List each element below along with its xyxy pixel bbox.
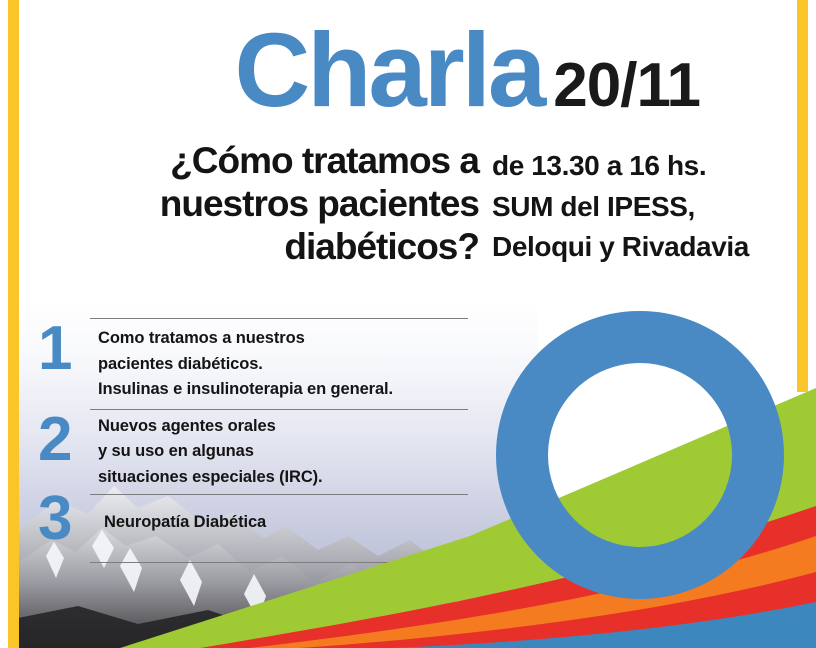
- agenda-body-2: Nuevos agentes orales y su uso en alguna…: [90, 409, 468, 491]
- subtitle-block: ¿Cómo tratamos a nuestros pacientes diab…: [24, 140, 479, 269]
- agenda-2-line-2: y su uso en algunas: [98, 439, 468, 465]
- page-title: Charla: [234, 12, 543, 129]
- subtitle-line-3: diabéticos?: [24, 226, 479, 269]
- agenda-body-1: Como tratamos a nuestros pacientes diabé…: [90, 318, 468, 403]
- venue-address: Deloqui y Rivadavia: [492, 227, 802, 268]
- title-row: Charla20/11: [0, 18, 700, 123]
- event-time: de 13.30 a 16 hs.: [492, 146, 802, 187]
- subtitle-line-1: ¿Cómo tratamos a: [24, 140, 479, 183]
- agenda-number-2: 2: [38, 411, 90, 468]
- venue-name: SUM del IPESS,: [492, 187, 802, 228]
- agenda-2-line-3: situaciones especiales (IRC).: [98, 465, 468, 491]
- agenda-1-line-2: pacientes diabéticos.: [98, 352, 468, 378]
- right-yellow-rule: [797, 0, 808, 392]
- agenda-item-2: 2 Nuevos agentes orales y su uso en algu…: [38, 409, 468, 491]
- subtitle-line-2: nuestros pacientes: [24, 183, 479, 226]
- blue-ring-graphic: [522, 337, 758, 573]
- agenda-1-line-3: Insulinas e insulinoterapia en general.: [98, 377, 468, 403]
- poster-canvas: Charla20/11 ¿Cómo tratamos a nuestros pa…: [0, 0, 816, 648]
- agenda-number-1: 1: [38, 320, 90, 377]
- agenda-1-line-1: Como tratamos a nuestros: [98, 326, 468, 352]
- agenda-3-line-1: Neuropatía Diabética: [98, 502, 468, 536]
- agenda-item-3: 3 Neuropatía Diabética: [38, 494, 468, 563]
- left-yellow-rule: [8, 0, 19, 648]
- agenda-body-3: Neuropatía Diabética: [90, 494, 468, 563]
- agenda-list: 1 Como tratamos a nuestros pacientes dia…: [38, 318, 468, 563]
- agenda-2-line-1: Nuevos agentes orales: [98, 414, 468, 440]
- venue-block: de 13.30 a 16 hs. SUM del IPESS, Deloqui…: [492, 146, 802, 268]
- agenda-number-3: 3: [38, 490, 90, 547]
- agenda-item-1: 1 Como tratamos a nuestros pacientes dia…: [38, 318, 468, 403]
- event-date: 20/11: [553, 51, 700, 120]
